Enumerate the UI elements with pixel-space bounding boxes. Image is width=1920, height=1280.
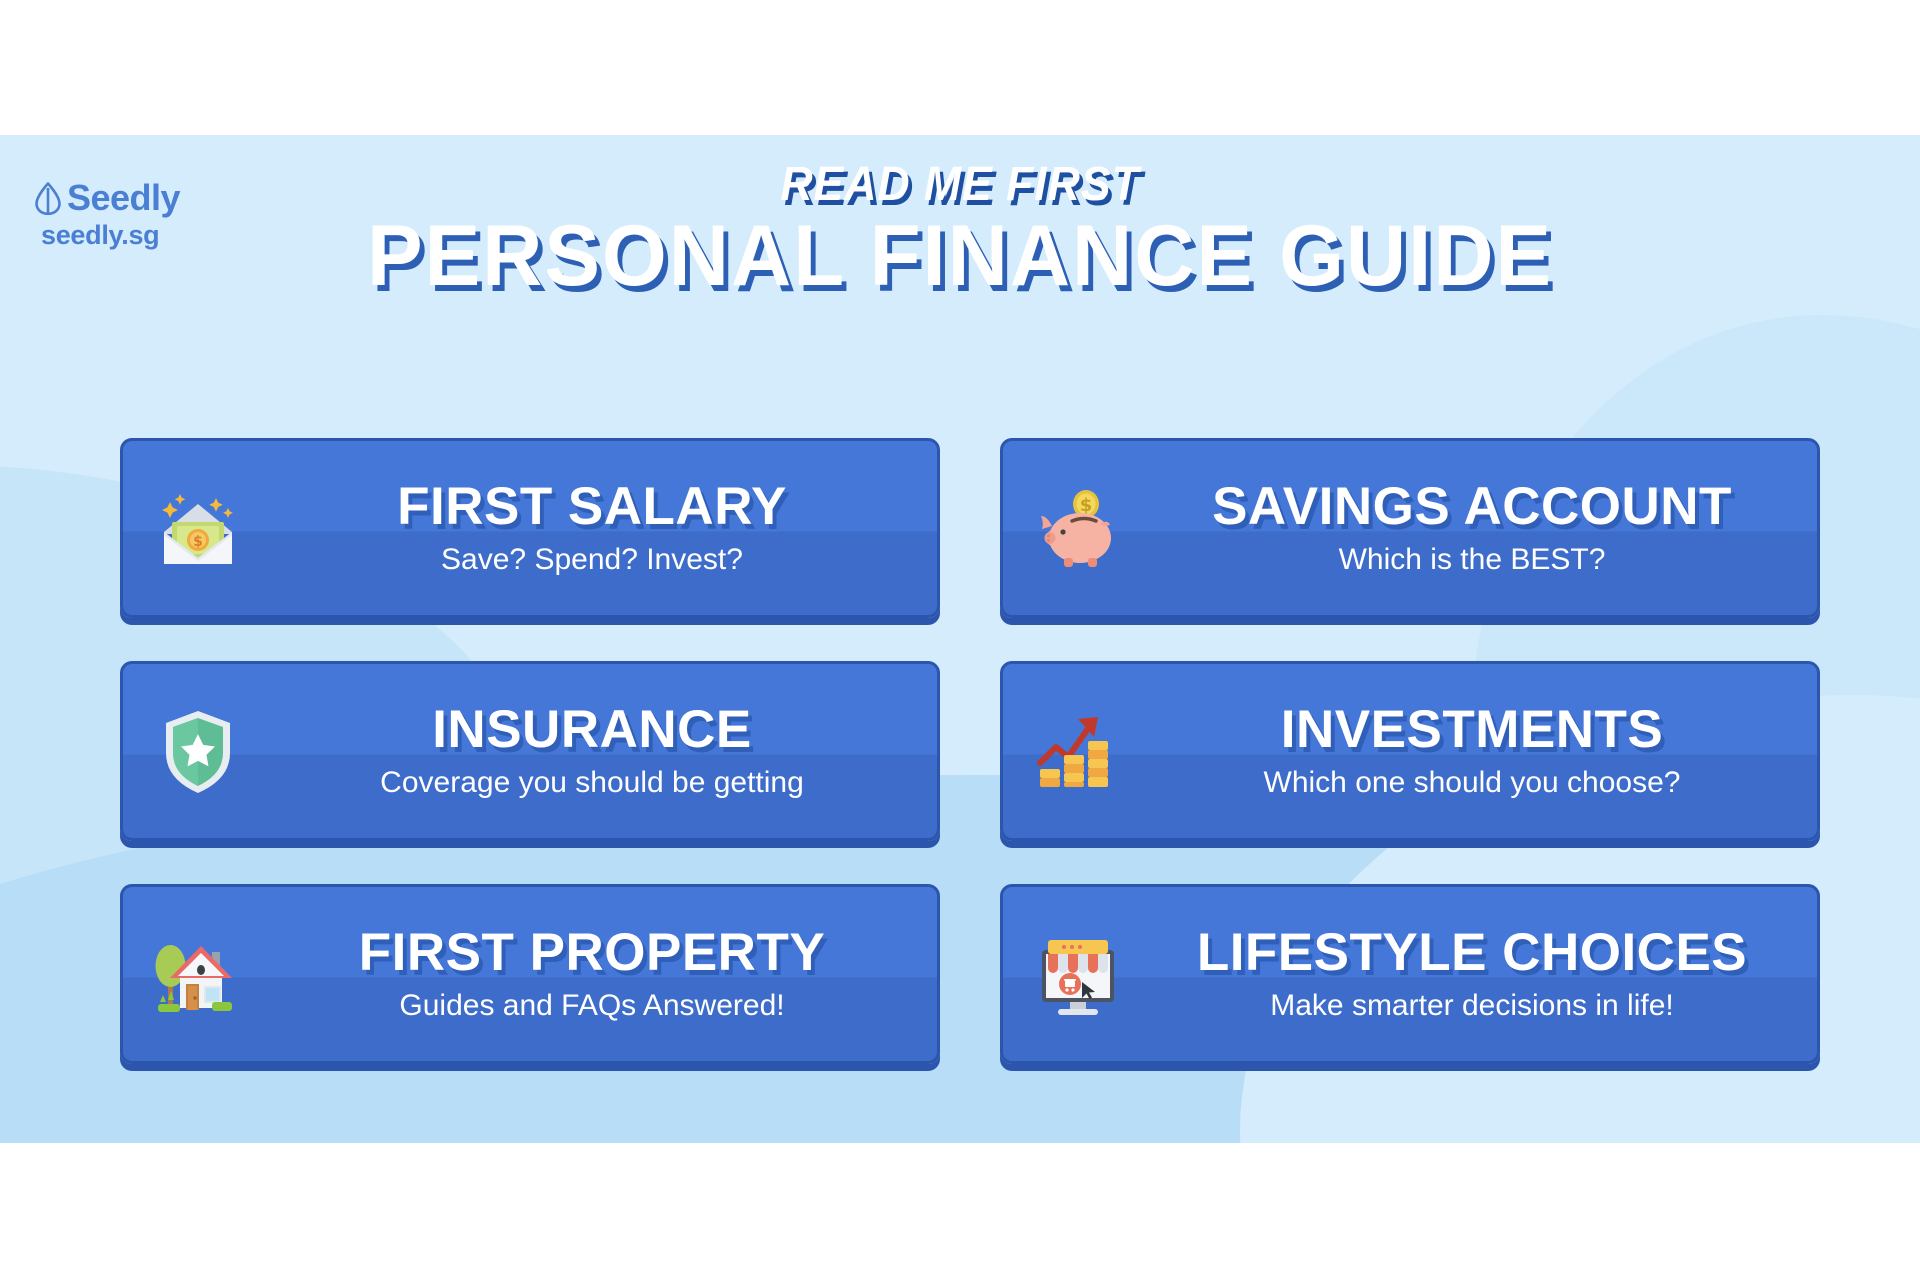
card-title: FIRST PROPERTY	[273, 926, 911, 980]
svg-text:$: $	[193, 534, 203, 550]
house-tree-icon	[123, 887, 273, 1061]
shield-star-icon	[123, 664, 273, 838]
card-insurance[interactable]: INSURANCE Coverage you should be getting	[120, 661, 940, 841]
card-subtitle: Which is the BEST?	[1153, 543, 1791, 576]
card-first-salary[interactable]: $ FIRST SALARY Save? Spend? Invest?	[120, 438, 940, 618]
topic-card-grid: $ FIRST SALARY Save? Spend? Invest?	[120, 438, 1820, 1064]
card-subtitle: Make smarter decisions in life!	[1153, 989, 1791, 1022]
infographic-banner: Seedly seedly.sg READ ME FIRST PERSONAL …	[0, 0, 1920, 1280]
growth-chart-coins-icon	[1003, 664, 1153, 838]
card-subtitle: Coverage you should be getting	[273, 766, 911, 799]
card-savings-account[interactable]: $ SAVINGS ACCOUNT	[1000, 438, 1820, 618]
card-title: LIFESTYLE CHOICES	[1153, 926, 1791, 980]
card-title: FIRST SALARY	[273, 480, 911, 534]
card-subtitle: Save? Spend? Invest?	[273, 543, 911, 576]
banner-background: Seedly seedly.sg READ ME FIRST PERSONAL …	[0, 135, 1920, 1143]
card-title: SAVINGS ACCOUNT	[1153, 480, 1791, 534]
svg-text:$: $	[1080, 495, 1093, 516]
card-lifestyle-choices[interactable]: LIFESTYLE CHOICES Make smarter decisions…	[1000, 884, 1820, 1064]
eyebrow-title: READ ME FIRST	[67, 157, 1853, 212]
card-title: INSURANCE	[273, 703, 911, 757]
card-title: INVESTMENTS	[1153, 703, 1791, 757]
card-subtitle: Which one should you choose?	[1153, 766, 1791, 799]
card-first-property[interactable]: FIRST PROPERTY Guides and FAQs Answered!	[120, 884, 940, 1064]
page-title: PERSONAL FINANCE GUIDE	[29, 207, 1891, 306]
card-investments[interactable]: INVESTMENTS Which one should you choose?	[1000, 661, 1820, 841]
piggy-bank-icon: $	[1003, 441, 1153, 615]
money-envelope-icon: $	[123, 441, 273, 615]
online-shop-monitor-icon	[1003, 887, 1153, 1061]
card-subtitle: Guides and FAQs Answered!	[273, 989, 911, 1022]
